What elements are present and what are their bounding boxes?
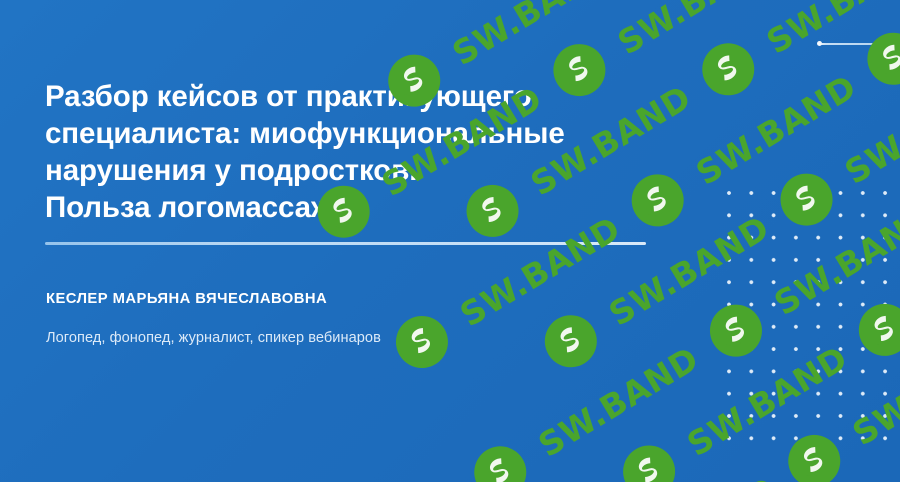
sw-band-logo-icon	[847, 291, 900, 368]
watermark-text: SW.BAND	[680, 338, 854, 464]
sw-band-logo-icon	[855, 20, 900, 97]
sw-band-logo-icon	[698, 292, 775, 369]
dot-grid-pattern	[726, 190, 894, 452]
slide-content: Разбор кейсов от практикующего специалис…	[45, 0, 655, 482]
watermark-text: SW.BAND	[846, 327, 900, 453]
page-title: Разбор кейсов от практикующего специалис…	[45, 78, 645, 226]
sw-band-logo-icon	[690, 31, 767, 108]
watermark-row: SW.BANDSW.BANDSW.BANDSW.BAND	[617, 366, 900, 482]
sw-band-logo-icon	[776, 422, 853, 482]
corner-accent-rule	[818, 43, 886, 45]
watermark-text: SW.BAND	[838, 66, 900, 192]
watermark-text: SW.BAND	[760, 0, 900, 61]
title-divider	[45, 242, 646, 245]
watermark-text: SW.BAND	[758, 468, 900, 482]
watermark-row: SW.BANDSW.BANDSW.BANDSW.BAND	[687, 301, 900, 482]
watermark-text: SW.BAND	[767, 197, 900, 323]
sw-band-logo-icon	[768, 161, 845, 238]
watermark-text: SW.BAND	[689, 67, 863, 193]
speaker-role: Логопед, фонопед, журналист, спикер веби…	[46, 329, 381, 348]
title-slide: Разбор кейсов от практикующего специалис…	[0, 0, 900, 482]
speaker-name: КЕСЛЕР МАРЬЯНА ВЯЧЕСЛАВОВНА	[46, 290, 327, 309]
